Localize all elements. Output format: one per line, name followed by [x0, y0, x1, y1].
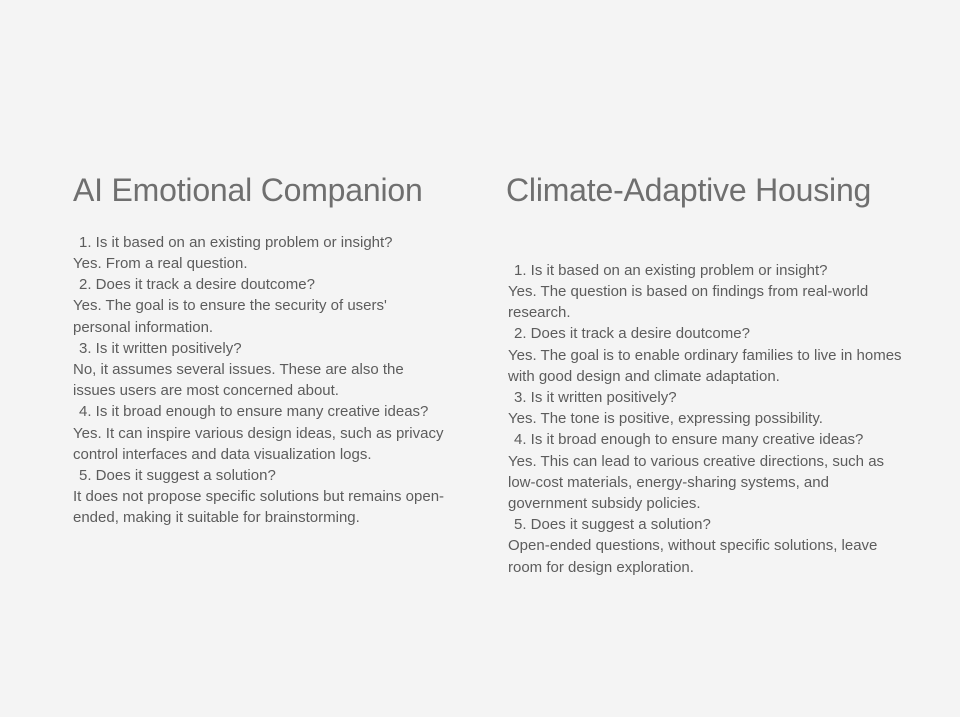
checklist-question: 3. Is it written positively? [73, 338, 445, 359]
checklist-question: 5. Does it suggest a solution? [508, 514, 906, 535]
column-title: Climate-Adaptive Housing [506, 172, 906, 210]
checklist-answer: Yes. The goal is to ensure the security … [73, 295, 445, 337]
checklist-answer: Yes. From a real question. [73, 253, 445, 274]
checklist-answer: No, it assumes several issues. These are… [73, 359, 445, 401]
checklist-answer: Yes. The goal is to enable ordinary fami… [508, 345, 906, 387]
checklist-answer: It does not propose specific solutions b… [73, 486, 445, 528]
column-body: 1. Is it based on an existing problem or… [73, 210, 445, 529]
column-title: AI Emotional Companion [73, 172, 445, 210]
checklist-answer: Yes. The question is based on findings f… [508, 281, 906, 323]
checklist-question: 2. Does it track a desire doutcome? [73, 274, 445, 295]
checklist-question: 4. Is it broad enough to ensure many cre… [508, 429, 906, 450]
checklist-answer: Yes. This can lead to various creative d… [508, 451, 906, 515]
checklist-question: 1. Is it based on an existing problem or… [73, 232, 445, 253]
column-body: 1. Is it based on an existing problem or… [506, 210, 906, 578]
slide-canvas: AI Emotional Companion 1. Is it based on… [0, 0, 960, 717]
checklist-answer: Yes. It can inspire various design ideas… [73, 423, 445, 465]
checklist-question: 4. Is it broad enough to ensure many cre… [73, 401, 445, 422]
checklist-answer: Open-ended questions, without specific s… [508, 535, 906, 577]
checklist-question: 3. Is it written positively? [508, 387, 906, 408]
checklist-question: 1. Is it based on an existing problem or… [508, 260, 906, 281]
column-climate-adaptive-housing: Climate-Adaptive Housing 1. Is it based … [506, 172, 906, 578]
checklist-question: 2. Does it track a desire doutcome? [508, 323, 906, 344]
checklist-question: 5. Does it suggest a solution? [73, 465, 445, 486]
checklist-answer: Yes. The tone is positive, expressing po… [508, 408, 906, 429]
column-ai-emotional-companion: AI Emotional Companion 1. Is it based on… [73, 172, 445, 529]
